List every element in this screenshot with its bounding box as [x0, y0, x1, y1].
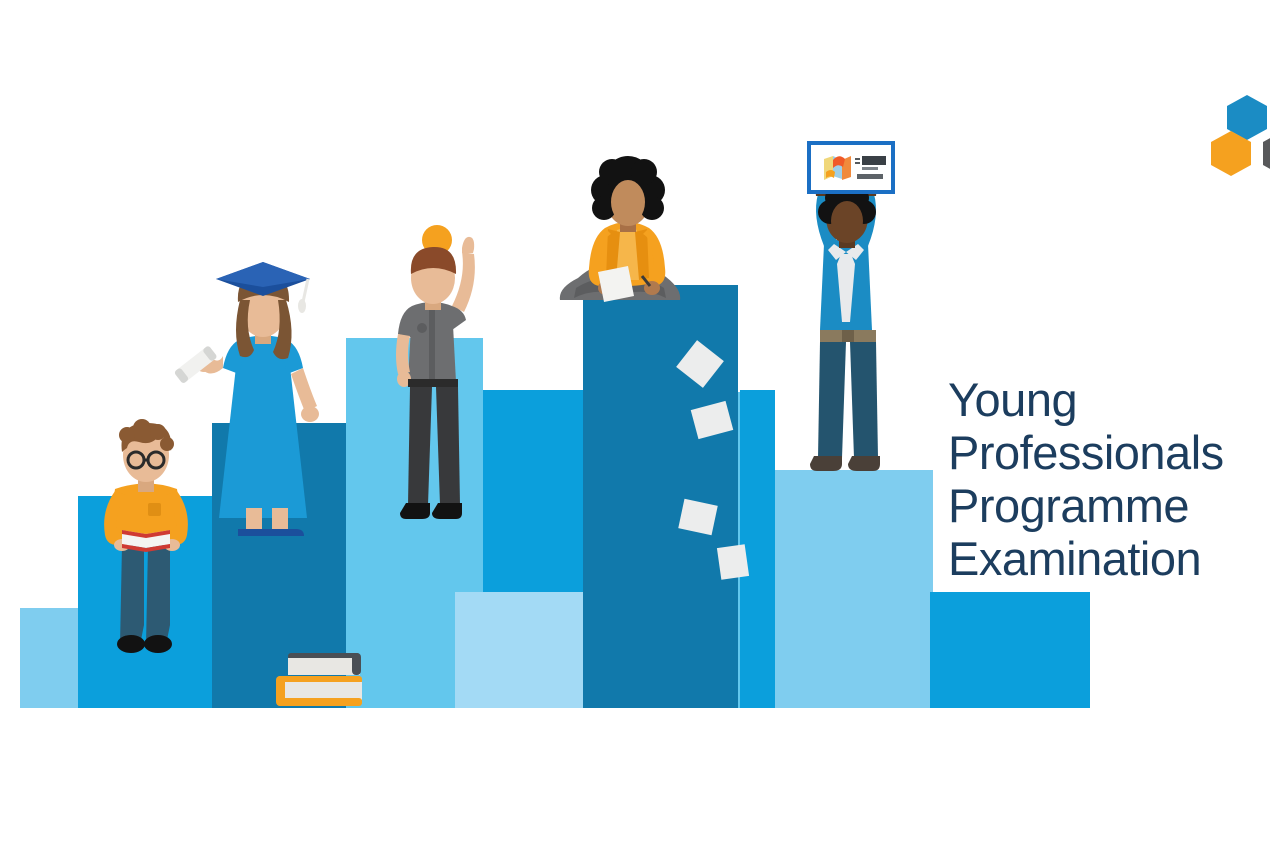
hexagon-gray	[1263, 131, 1270, 176]
book-top-spine	[352, 653, 361, 675]
idea-man-arm-raised	[452, 252, 475, 312]
bar-11	[930, 592, 1090, 708]
figure-graduate-woman	[174, 262, 319, 536]
book-bottom-spine	[276, 676, 285, 706]
graduate-arm-right	[291, 368, 317, 412]
idea-man-leg-left	[408, 387, 432, 505]
page-title: Young Professionals Programme Examinatio…	[948, 373, 1270, 585]
graduate-hand-right	[301, 406, 319, 422]
idea-man-shirt-placket	[429, 306, 435, 382]
graduate-cap-tassel	[298, 299, 306, 313]
sign-man-leg-left	[818, 342, 846, 458]
boy-hair-curl-4	[160, 437, 174, 451]
un-awards-sign	[807, 141, 895, 194]
graduate-leg-right	[272, 508, 288, 532]
boy-leg-right	[146, 545, 170, 645]
paper-4	[717, 544, 749, 580]
hexagon-badge	[1211, 95, 1270, 176]
book-bottom-pages	[277, 682, 362, 700]
slide-canvas: Young Professionals Programme Examinatio…	[0, 0, 1270, 847]
sign-man-shoe-right	[848, 456, 880, 471]
title-line-2: Professionals	[948, 426, 1270, 479]
boy-hair-curl-1	[119, 427, 135, 443]
book-top-pages	[288, 658, 360, 675]
figure-man-holding-sign	[807, 141, 895, 471]
sign-man-shoe-left	[810, 456, 842, 471]
book-stack-group	[276, 653, 362, 706]
sign-man-leg-right	[850, 342, 878, 458]
boy-hair-curl-3	[150, 424, 166, 440]
graduate-leg-left	[246, 508, 262, 532]
bar-6	[455, 592, 585, 708]
study-woman-face	[611, 180, 645, 224]
sign-logo-mark	[824, 156, 851, 180]
title-line-1: Young	[948, 373, 1270, 426]
book-bottom-base	[277, 698, 362, 706]
figure-seated-woman-studying	[560, 156, 680, 302]
boy-shoe-left	[117, 635, 145, 653]
title-line-3: Programme	[948, 479, 1270, 532]
boy-leg-left	[120, 545, 144, 645]
title-line-4: Examination	[948, 532, 1270, 585]
idea-man-shirt-pocket	[417, 323, 427, 333]
boy-shoe-right	[144, 635, 172, 653]
bar-10	[775, 470, 933, 708]
idea-man-arm-left	[396, 334, 410, 374]
bar-chart-group	[20, 285, 1090, 708]
graduate-cap-tassel-cord	[303, 279, 308, 302]
boy-hair-curl-2	[133, 419, 151, 437]
sign-man-face	[831, 201, 863, 241]
study-woman-paper	[598, 266, 634, 302]
graduate-shoe-right	[266, 529, 304, 536]
sign-man-belt-buckle	[842, 330, 854, 342]
idea-man-leg-right	[436, 387, 460, 505]
boy-pocket	[148, 503, 161, 516]
idea-man-hand-raised	[462, 237, 474, 253]
bar-8	[583, 285, 738, 708]
idea-man-belt	[408, 379, 458, 387]
